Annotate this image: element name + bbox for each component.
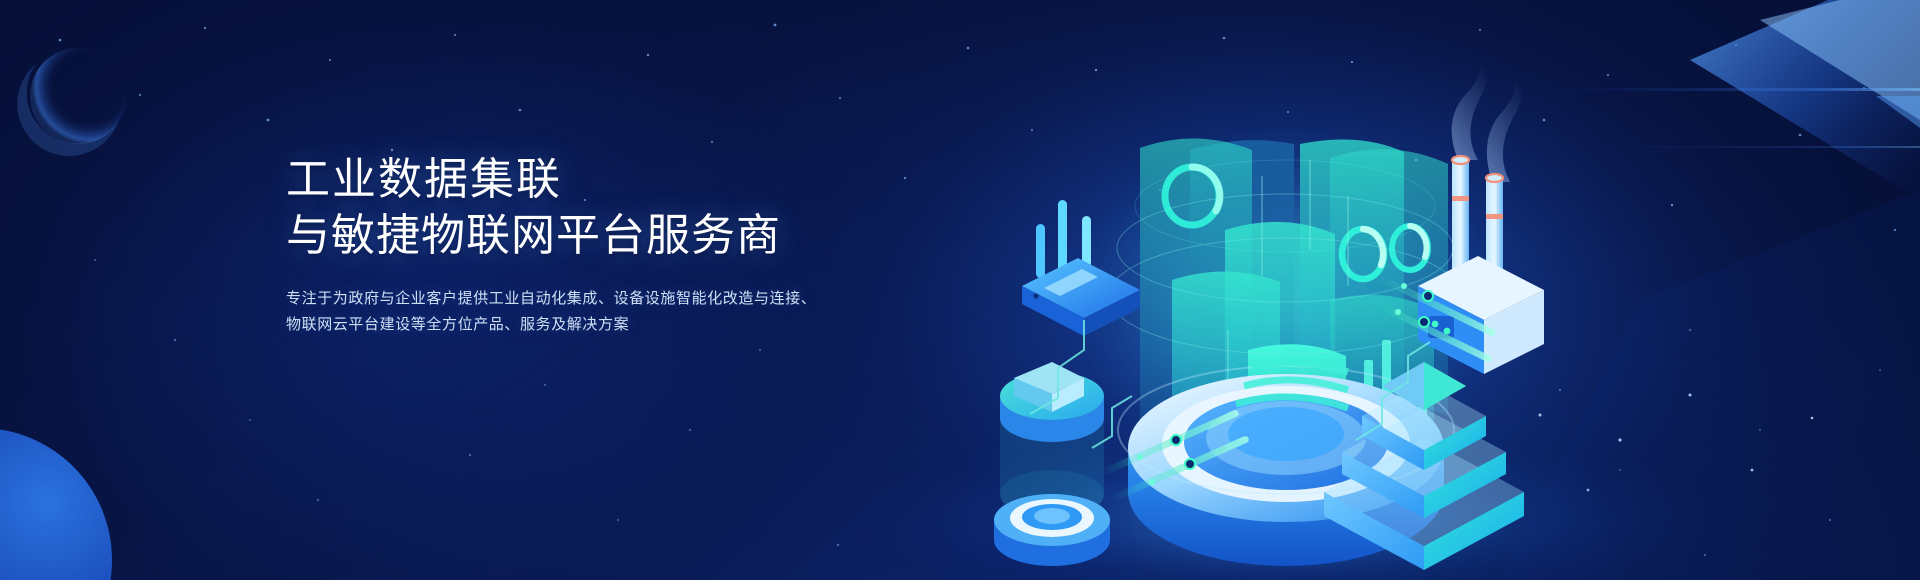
holo-panel-front-left — [1172, 271, 1280, 492]
data-cylinder-hologram — [1070, 125, 1500, 492]
layered-pyramid — [1324, 362, 1524, 570]
hero-banner: 工业数据集联 与敏捷物联网平台服务商 专注于为政府与企业客户提供工业自动化集成、… — [0, 0, 1920, 580]
smokestack-pipe-2 — [1486, 178, 1503, 292]
connector-cables — [1030, 320, 1430, 448]
wireless-router — [1022, 200, 1140, 336]
disc-data-arcs — [1236, 363, 1348, 408]
holo-panel-highlight — [1248, 344, 1346, 474]
holo-rings — [1109, 160, 1461, 354]
smoke-plume-1 — [1452, 40, 1488, 160]
holo-panel-right — [1330, 149, 1448, 416]
crescent-outline — [30, 48, 126, 144]
factory-roof — [1418, 256, 1544, 320]
ambient-glow — [770, 0, 1810, 580]
bar-chart-panel — [1364, 340, 1427, 424]
headline-line-2: 与敏捷物联网平台服务商 — [286, 208, 846, 264]
planet-sphere — [0, 428, 112, 580]
central-disc-platform — [1118, 363, 1454, 566]
smoke-plume-2 — [1487, 54, 1523, 182]
hero-text-block: 工业数据集联 与敏捷物联网平台服务商 专注于为政府与企业客户提供工业自动化集成、… — [286, 152, 846, 338]
ring-gauge-icon — [1165, 167, 1220, 225]
headline-line-1: 工业数据集联 — [286, 152, 846, 208]
light-beam — [1560, 0, 1920, 200]
smokestack-pipe-1 — [1452, 160, 1469, 286]
holo-panel-rear-2 — [1300, 140, 1404, 405]
subtext-line-1: 专注于为政府与企业客户提供工业自动化集成、设备设施智能化改造与连接、 — [286, 286, 846, 312]
factory-wall-left — [1418, 286, 1484, 374]
holo-streaks — [1228, 160, 1348, 430]
subtext-line-2: 物联网云平台建设等全方位产品、服务及解决方案 — [286, 312, 846, 338]
data-beam-nodes — [1100, 274, 1497, 502]
holo-panel-front-right — [1330, 295, 1434, 492]
factory-wall-right — [1484, 290, 1544, 374]
dual-ring-gauge-icon — [1342, 226, 1428, 279]
factory-indicator-lights — [1428, 316, 1454, 338]
factory-smokestacks — [1418, 40, 1544, 374]
holo-panel-rear-1 — [1190, 140, 1294, 400]
subtext: 专注于为政府与企业客户提供工业自动化集成、设备设施智能化改造与连接、 物联网云平… — [286, 286, 846, 338]
background-haze — [940, 190, 1920, 580]
donut-chart-cylinder — [994, 362, 1110, 566]
crescent-shape — [17, 64, 118, 156]
router-antennas — [1036, 200, 1091, 278]
floor-glow — [845, 424, 1725, 580]
holo-panel-left — [1140, 138, 1252, 422]
headline: 工业数据集联 与敏捷物联网平台服务商 — [286, 152, 846, 264]
holo-panel-center — [1225, 222, 1335, 464]
